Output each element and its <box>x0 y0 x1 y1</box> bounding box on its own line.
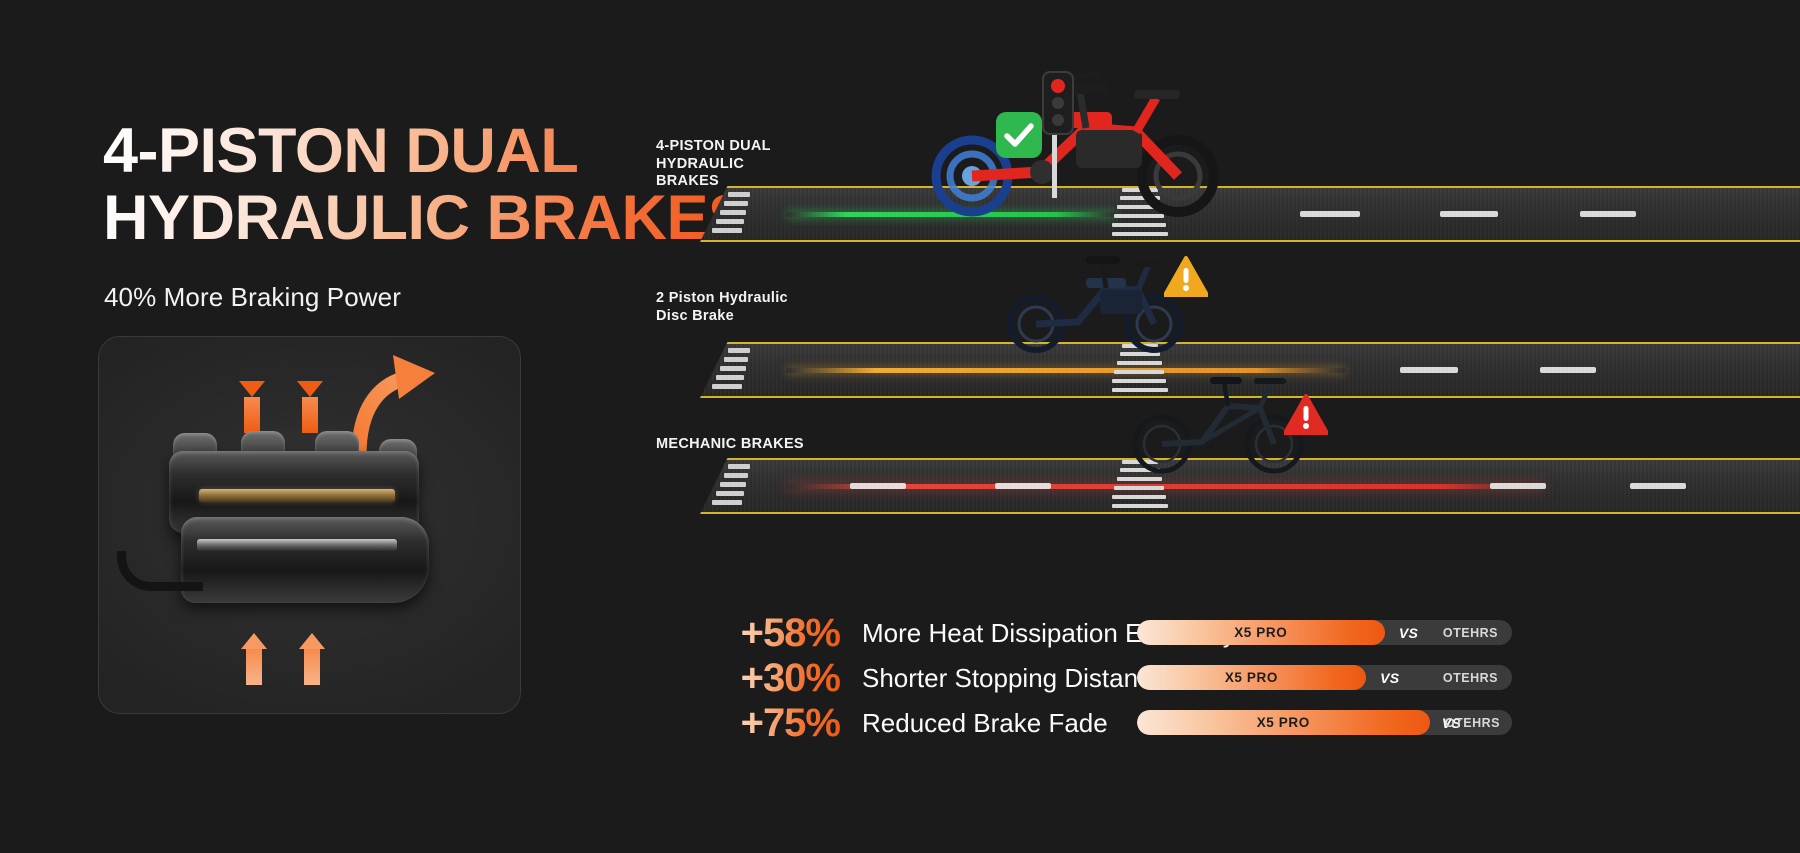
comparison-others-label: OTEHRS <box>1445 710 1500 735</box>
product-image-card <box>98 336 521 714</box>
comparison-others-label: OTEHRS <box>1443 620 1498 645</box>
braking-comparison-lanes: 4-PISTON DUAL HYDRAULIC BRAKES 2 Piston … <box>700 0 1800 560</box>
stat-label: Reduced Brake Fade <box>862 708 1108 739</box>
lane-label-3: MECHANIC BRAKES <box>656 436 804 454</box>
check-icon <box>996 112 1042 158</box>
page-title: 4-PISTON DUAL HYDRAULIC BRAKES <box>103 118 750 253</box>
stat-percent: +58% <box>720 611 840 656</box>
stat-percent: +75% <box>720 701 840 746</box>
page-title-line-1: 4-PISTON DUAL <box>103 116 578 186</box>
brake-hose <box>117 551 203 591</box>
page-subtitle: 40% More Braking Power <box>104 282 401 313</box>
comparison-ours-label: X5 PRO <box>1137 620 1385 645</box>
stat-label: Shorter Stopping Distance <box>862 663 1166 694</box>
comparison-bar: X5 PRO VS OTEHRS <box>1137 665 1512 690</box>
force-arrow-up-icon <box>299 633 325 685</box>
lane-label-1: 4-PISTON DUAL HYDRAULIC BRAKES <box>656 138 771 191</box>
status-badge-warning <box>1164 256 1208 303</box>
comparison-bar: X5 PRO VS OTEHRS <box>1137 620 1512 645</box>
ebike-illustration-3 <box>1128 368 1308 474</box>
brake-caliper-illustration <box>147 425 477 625</box>
force-arrow-up-icon <box>241 633 267 685</box>
stats-section: +58% More Heat Dissipation Efficiency X5… <box>720 610 1780 760</box>
warning-icon <box>1164 256 1208 298</box>
lane-edge-dashes <box>710 464 780 508</box>
comparison-bar: X5 PRO VS OTEHRS <box>1137 710 1512 735</box>
comparison-vs-label: VS <box>1366 665 1414 690</box>
stat-percent: +30% <box>720 656 840 701</box>
hero-section: 4-PISTON DUAL HYDRAULIC BRAKES 40% More … <box>0 0 720 853</box>
comparison-vs-label: VS <box>1385 620 1433 645</box>
ebike-illustration-2 <box>1000 244 1190 354</box>
status-badge-ok <box>996 112 1042 163</box>
page-title-line-2: HYDRAULIC BRAKES <box>103 185 750 252</box>
comparison-others-label: OTEHRS <box>1443 665 1498 690</box>
lane-edge-dashes <box>710 348 780 392</box>
lane-label-2: 2 Piston Hydraulic Disc Brake <box>656 290 788 325</box>
status-badge-alert <box>1284 394 1328 441</box>
comparison-ours-label: X5 PRO <box>1137 710 1430 735</box>
lane-edge-dashes <box>710 192 780 236</box>
alert-icon <box>1284 394 1328 436</box>
traffic-light <box>1040 66 1084 198</box>
comparison-ours-label: X5 PRO <box>1137 665 1366 690</box>
